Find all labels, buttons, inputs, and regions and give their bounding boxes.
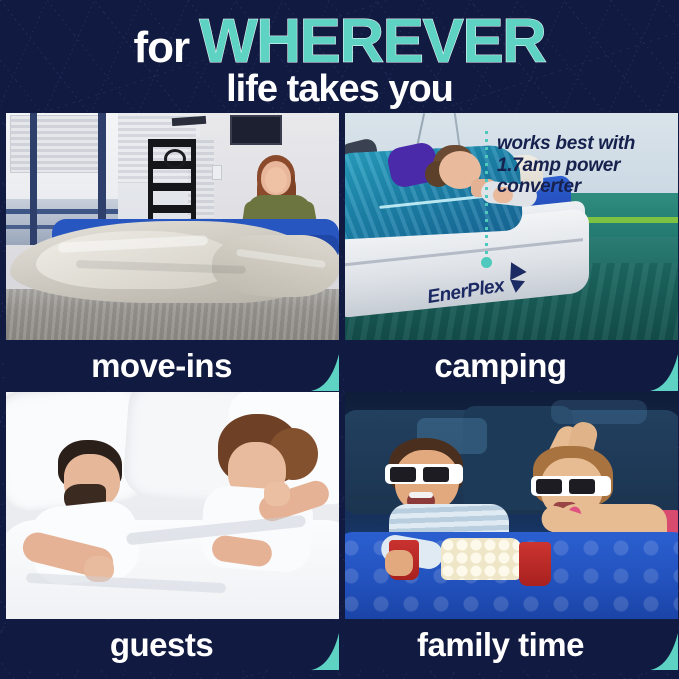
panel-guests: guests: [6, 392, 339, 670]
panel-family-time: family time: [345, 392, 678, 670]
panel-camping: EnerPlex works best with 1.7amp power co…: [345, 113, 678, 391]
promo-image: forWHEREVER life takes you: [0, 0, 679, 679]
wall-picture-frame: [230, 115, 282, 145]
curved-triangle-accent: [311, 345, 339, 391]
header: forWHEREVER life takes you: [0, 0, 679, 113]
callout-note: works best with 1.7amp power converter: [497, 133, 675, 198]
label-bar-move-ins: move-ins: [6, 341, 339, 391]
drink-cup: [519, 542, 551, 586]
panel-label-camping: camping: [345, 341, 678, 391]
photo-move-ins: [6, 113, 339, 340]
panel-label-guests: guests: [6, 620, 339, 670]
label-bar-guests: guests: [6, 620, 339, 670]
label-bar-camping: camping: [345, 341, 678, 391]
feature-grid: move-ins: [0, 113, 679, 679]
dot-marker: [481, 257, 492, 268]
curved-triangle-accent: [650, 345, 678, 391]
photo-guests: [6, 392, 339, 619]
curved-triangle-accent: [311, 624, 339, 670]
headline-for: for: [134, 23, 190, 72]
photo-camping: EnerPlex works best with 1.7amp power co…: [345, 113, 678, 340]
panel-label-family-time: family time: [345, 620, 678, 670]
panel-move-ins: move-ins: [6, 113, 339, 391]
headline-line-1: forWHEREVER: [0, 6, 679, 77]
headline-wherever: WHEREVER: [199, 7, 545, 76]
label-bar-family-time: family time: [345, 620, 678, 670]
callout-line-1: works best with: [497, 133, 675, 155]
popcorn-bowl: [441, 538, 521, 580]
callout-line-2: 1.7amp power: [497, 155, 675, 177]
callout-line-3: converter: [497, 176, 675, 198]
enerplex-logo-text: EnerPlex: [426, 275, 506, 309]
headline-line-2: life takes you: [0, 68, 679, 111]
panel-label-move-ins: move-ins: [6, 341, 339, 391]
dotted-leader-line: [485, 131, 488, 257]
curved-triangle-accent: [650, 624, 678, 670]
photo-family-time: [345, 392, 678, 619]
